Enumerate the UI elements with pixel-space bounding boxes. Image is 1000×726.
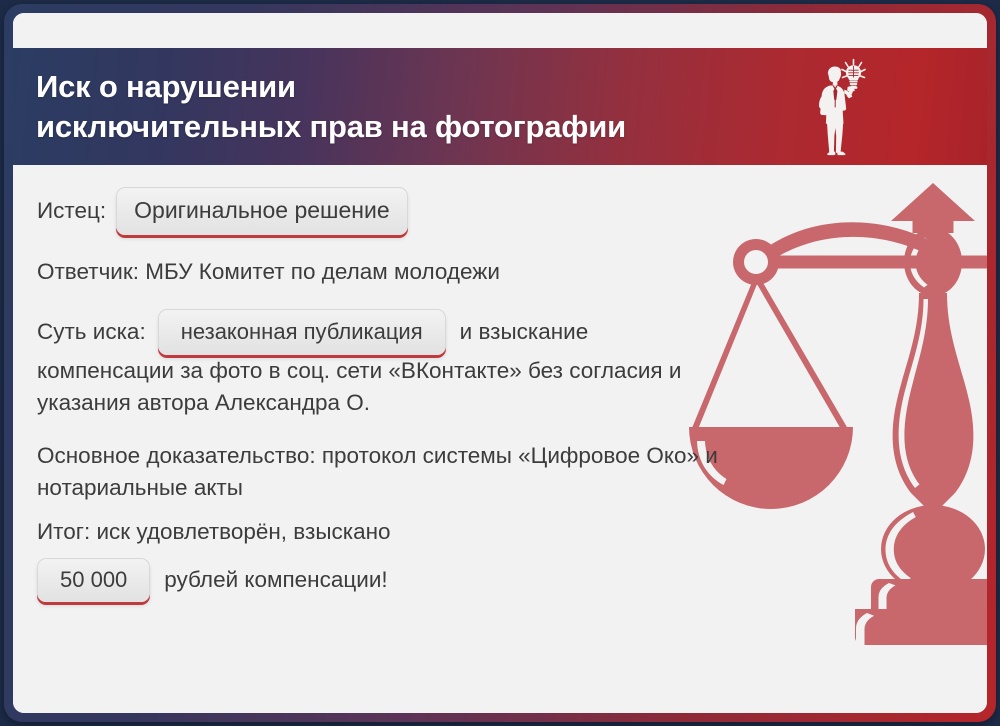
claim-label: Суть иска: xyxy=(37,317,146,347)
businessman-with-lightbulb-icon xyxy=(803,56,867,160)
outcome-row: Итог: иск удовлетворён, взыскано xyxy=(37,517,987,547)
defendant-row: Ответчик: МБУ Комитет по делам молодежи xyxy=(37,257,987,287)
defendant-text: Ответчик: МБУ Комитет по делам молодежи xyxy=(37,257,500,287)
plaintiff-value-pill[interactable]: Оригинальное решение xyxy=(116,187,408,235)
claim-paragraph: компенсации за фото в соц. сети «ВКонтак… xyxy=(37,355,727,418)
amount-value-pill[interactable]: 50 000 xyxy=(37,558,150,602)
outcome-label: Итог: иск удовлетворён, взыскано xyxy=(37,517,391,547)
claim-subject-row: Суть иска: незаконная публикация и взыск… xyxy=(37,309,987,355)
plaintiff-row: Истец: Оригинальное решение xyxy=(37,187,987,235)
header-band: Иск о нарушении исключительных прав на ф… xyxy=(13,48,987,165)
card-frame: Иск о нарушении исключительных прав на ф… xyxy=(4,4,996,722)
card-inner: Иск о нарушении исключительных прав на ф… xyxy=(13,13,987,713)
top-white-strip xyxy=(13,13,987,48)
claim-tail-text: и взыскание xyxy=(460,317,589,347)
plaintiff-label: Истец: xyxy=(37,196,106,226)
body-area: Истец: Оригинальное решение Ответчик: МБ… xyxy=(13,165,987,713)
amount-row: 50 000 рублей компенсации! xyxy=(37,558,987,602)
amount-tail-text: рублей компенсации! xyxy=(164,565,387,595)
content-column: Истец: Оригинальное решение Ответчик: МБ… xyxy=(37,165,987,602)
page-title: Иск о нарушении исключительных прав на ф… xyxy=(36,67,626,146)
claim-value-pill[interactable]: незаконная публикация xyxy=(158,309,446,355)
evidence-paragraph: Основное доказательство: протокол систем… xyxy=(37,440,727,503)
